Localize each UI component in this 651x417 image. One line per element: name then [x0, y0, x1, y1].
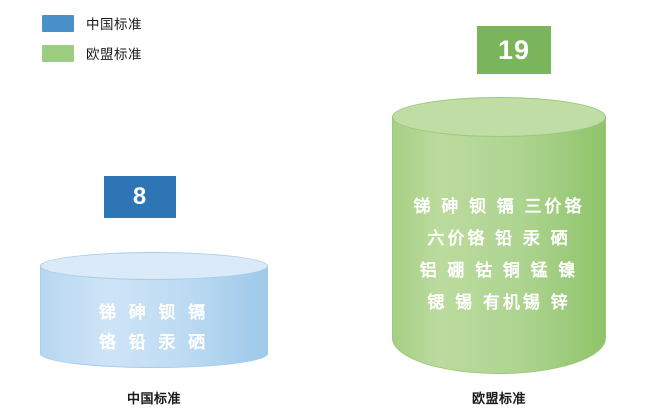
- china-substance-list: 锑 砷 钡 镉 铬 铅 汞 硒: [40, 298, 268, 358]
- eu-substance-line: 铝 硼 钴 铜 锰 镍: [392, 255, 606, 287]
- eu-value-badge: 19: [477, 26, 551, 74]
- eu-substance-line: 六价铬 铅 汞 硒: [392, 223, 606, 255]
- legend: 中国标准 欧盟标准: [42, 8, 142, 68]
- china-caption: 中国标准: [40, 388, 268, 407]
- legend-item-eu: 欧盟标准: [42, 38, 142, 68]
- china-substance-line: 锑 砷 钡 镉: [40, 298, 268, 328]
- legend-item-china: 中国标准: [42, 8, 142, 38]
- china-value-badge: 8: [104, 176, 176, 218]
- legend-swatch-china-icon: [42, 15, 74, 32]
- china-substance-line: 铬 铅 汞 硒: [40, 328, 268, 358]
- eu-substance-list: 锑 砷 钡 镉 三价铬 六价铬 铅 汞 硒 铝 硼 钴 铜 锰 镍 锶 锡 有机…: [392, 191, 606, 319]
- eu-cylinder-top-ellipse: [392, 97, 606, 137]
- eu-cylinder: 锑 砷 钡 镉 三价铬 六价铬 铅 汞 硒 铝 硼 钴 铜 锰 镍 锶 锡 有机…: [392, 97, 606, 387]
- legend-swatch-eu-icon: [42, 45, 74, 62]
- eu-caption: 欧盟标准: [392, 388, 606, 407]
- legend-label-eu: 欧盟标准: [86, 43, 142, 63]
- china-cylinder-top-ellipse: [40, 252, 268, 280]
- eu-substance-line: 锶 锡 有机锡 锌: [392, 287, 606, 319]
- china-cylinder: 锑 砷 钡 镉 铬 铅 汞 硒: [40, 252, 268, 377]
- legend-label-china: 中国标准: [86, 13, 142, 33]
- eu-substance-line: 锑 砷 钡 镉 三价铬: [392, 191, 606, 223]
